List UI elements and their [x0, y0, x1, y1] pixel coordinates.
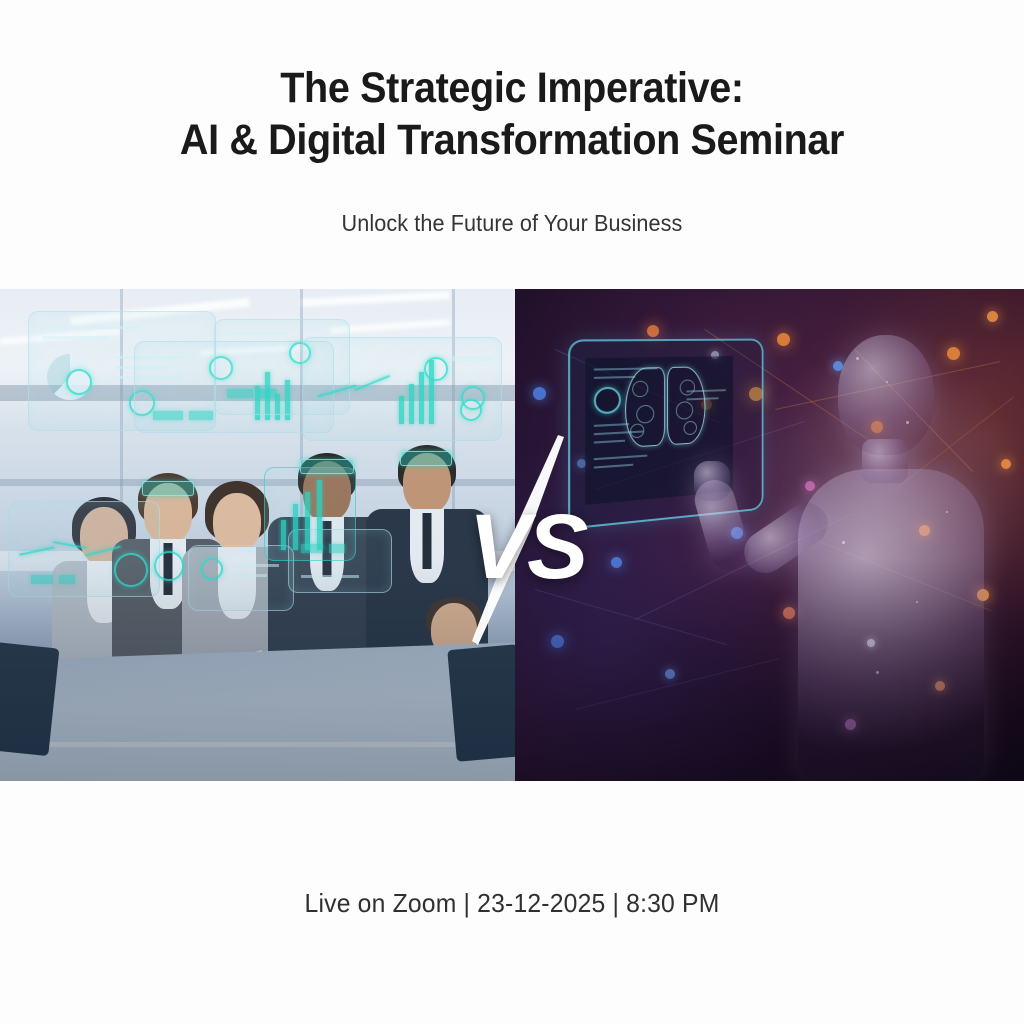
page-subtitle: Unlock the Future of Your Business	[31, 210, 994, 237]
event-details: Live on Zoom | 23-12-2025 | 8:30 PM	[26, 888, 999, 919]
panel-shading	[0, 289, 515, 781]
page-title: The Strategic Imperative: AI & Digital T…	[41, 62, 983, 166]
comparison-banner: VS Digital TRANSFORMATION	[0, 289, 1024, 781]
panel-digital-transformation	[0, 289, 515, 781]
header: The Strategic Imperative: AI & Digital T…	[0, 0, 1024, 237]
panel-shading	[515, 289, 1024, 781]
panel-ai-transformation	[515, 289, 1024, 781]
page-title-line-2: AI & Digital Transformation Seminar	[41, 114, 983, 166]
page-title-line-1: The Strategic Imperative:	[280, 64, 743, 112]
